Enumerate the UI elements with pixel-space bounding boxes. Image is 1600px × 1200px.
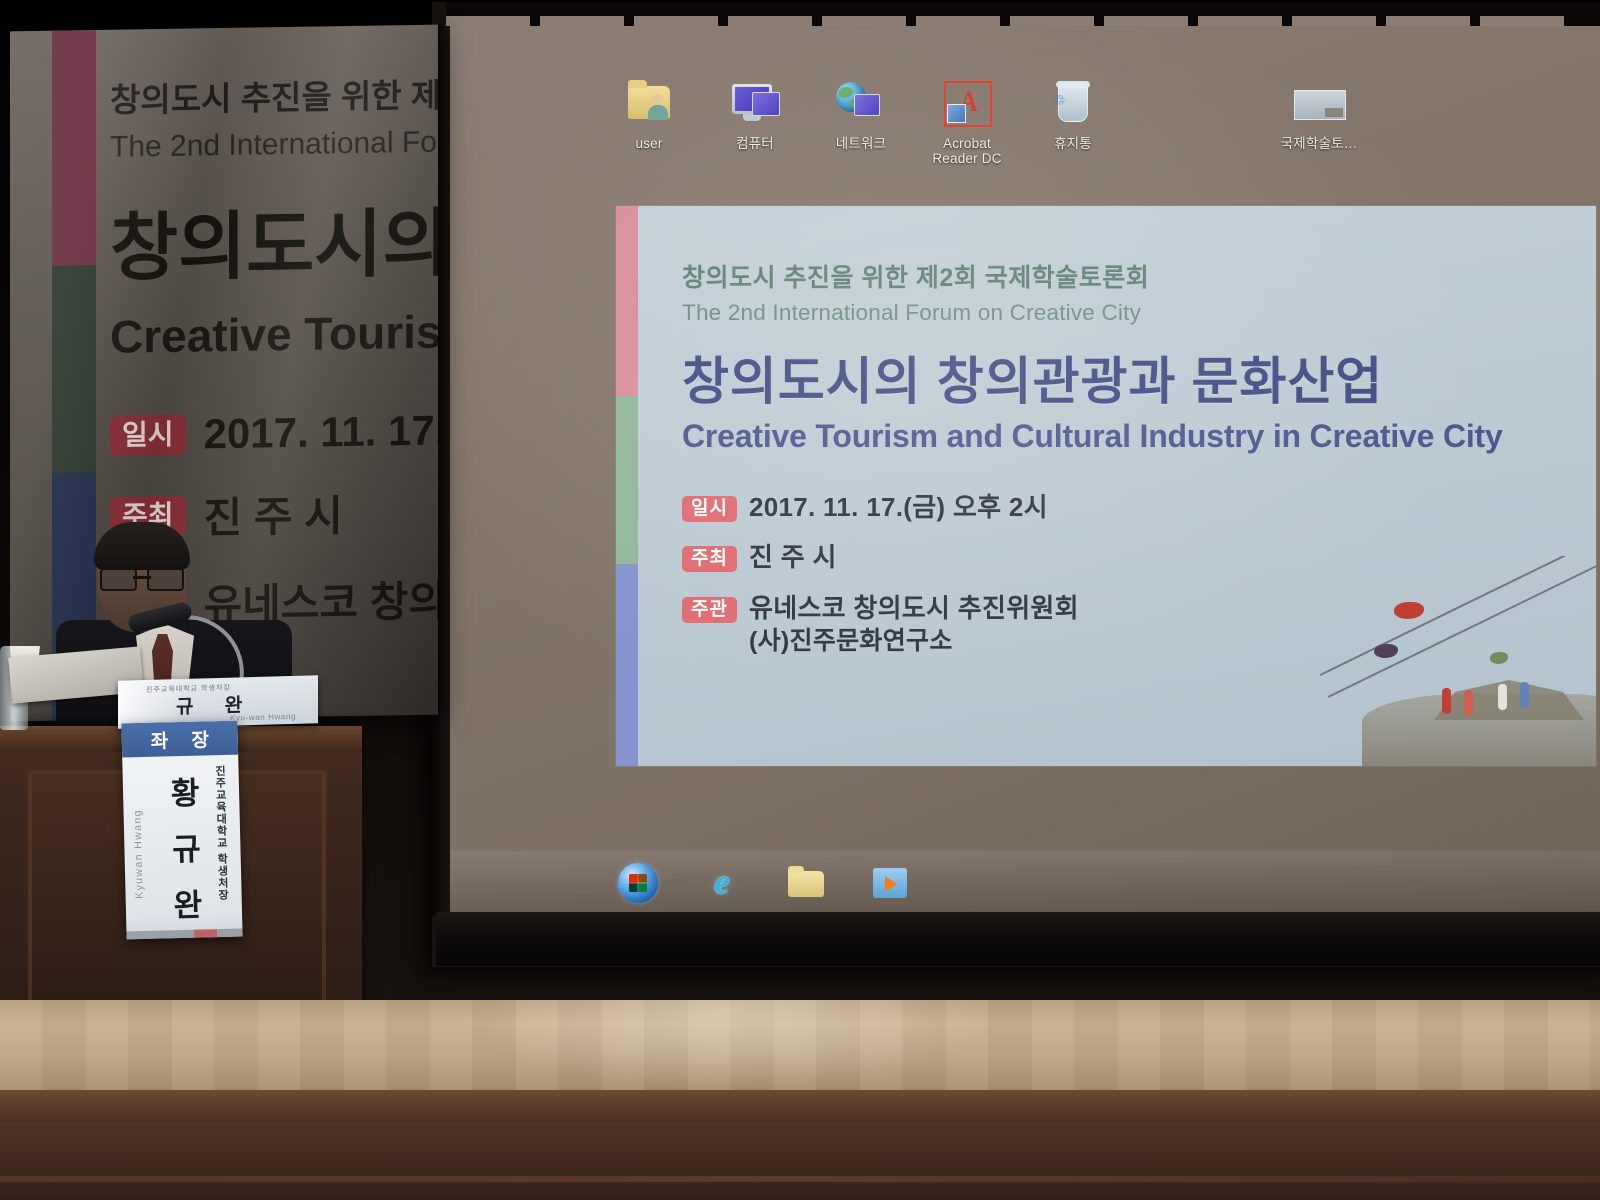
acrobat-reader-icon: A	[938, 78, 996, 130]
banner-info-row-date: 일시 2017. 11. 17.	[110, 403, 438, 460]
nameplate-romanized: Kyu-wan Hwang	[230, 712, 296, 723]
stage-floor	[0, 1000, 1600, 1092]
info-value-organizer-main: 유네스코 창의도시 추진위원회	[749, 593, 1079, 623]
illustration-roof	[1434, 680, 1584, 720]
slide-eyebrow-korean: 창의도시 추진을 위한 제2회 국제학술토론회	[682, 258, 1586, 294]
banner-title-korean: 창의도시의 창의관광과 문화산업	[110, 180, 438, 296]
info-badge-date: 일시	[682, 496, 737, 522]
info-value-date: 2017. 11. 17.(금) 오후 2시	[749, 491, 1048, 524]
presentation-slide: 창의도시 추진을 위한 제2회 국제학술토론회 The 2nd Internat…	[616, 206, 1596, 766]
projected-desktop: user 컴퓨터 네트워크 A	[450, 26, 1600, 914]
windows-taskbar[interactable]: e	[450, 850, 1600, 914]
nameplate-name-vertical: 황 규 완	[164, 765, 208, 934]
banner-eyebrow-korean: 창의도시 추진을 위한 제2회 국제학술토론회	[110, 65, 438, 122]
computer-icon	[726, 78, 784, 130]
info-value-host: 진 주 시	[749, 541, 837, 574]
slide-content: 창의도시 추진을 위한 제2회 국제학술토론회 The 2nd Internat…	[682, 258, 1586, 674]
desktop-icon-label: 휴지통	[1034, 136, 1112, 151]
start-orb-icon[interactable]	[618, 863, 658, 903]
nameplate-romanized-vertical: Kyuwan Hwang	[131, 809, 145, 899]
windows-explorer-icon[interactable]	[786, 863, 826, 903]
internet-explorer-icon[interactable]: e	[702, 863, 742, 903]
network-globe-icon	[832, 78, 890, 130]
slide-bar-pink	[616, 206, 638, 396]
info-badge-organizer: 주관	[682, 597, 737, 623]
slide-info-row-host: 주최 진 주 시	[682, 541, 1586, 574]
info-value-organizer-sub: (사)진주문화연구소	[749, 625, 1079, 657]
slide-bar-blue	[616, 564, 638, 766]
screen-bottom-bar	[436, 912, 1600, 966]
desktop-icon-label: 국제학술토…	[1280, 136, 1358, 151]
slide-title-korean: 창의도시의 창의관광과 문화산업	[682, 340, 1586, 414]
nameplate-name-char: 규	[166, 821, 207, 878]
slide-bar-green	[616, 396, 638, 564]
stage-front-trim	[0, 1176, 1600, 1182]
desktop-icon-label-line2: Reader DC	[928, 151, 1006, 166]
illustration-figure	[1498, 684, 1507, 710]
desktop-icon-label: 컴퓨터	[716, 136, 794, 151]
nameplate-affiliation: 진주교육대학교 학생처장	[211, 765, 230, 901]
slide-title-english: Creative Tourism and Cultural Industry i…	[682, 418, 1586, 455]
slide-info-row-organizer: 주관 유네스코 창의도시 추진위원회 (사)진주문화연구소	[682, 592, 1586, 657]
projection-screen: user 컴퓨터 네트워크 A	[432, 2, 1600, 982]
nameplate-name-char: 완	[167, 877, 208, 934]
desktop-icon-row: user 컴퓨터 네트워크 A	[610, 78, 1358, 166]
illustration-figure	[1464, 690, 1473, 716]
nameplate-role-badge: 좌 장	[121, 721, 238, 758]
desktop-icon-computer[interactable]: 컴퓨터	[716, 78, 794, 151]
desktop-icon-user[interactable]: user	[610, 78, 688, 151]
nameplate-name-char: 황	[164, 765, 205, 822]
file-thumbnail-icon	[1290, 78, 1348, 130]
illustration-figure	[1442, 688, 1451, 714]
eyeglasses-icon	[100, 568, 184, 587]
banner-bar-pink	[52, 30, 96, 265]
floor-light-reflection	[420, 1000, 1040, 1092]
slide-eyebrow-english: The 2nd International Forum on Creative …	[682, 300, 1586, 326]
desktop-icon-label: user	[610, 136, 688, 151]
speaker-hair	[94, 522, 190, 570]
desktop-icon-acrobat-reader[interactable]: A Acrobat Reader DC	[928, 78, 1006, 166]
slide-info-list: 일시 2017. 11. 17.(금) 오후 2시 주최 진 주 시 주관 유네…	[682, 491, 1586, 657]
info-value-organizer: 유네스코 창의도시 추진위원회 (사)진주문화연구소	[749, 592, 1079, 657]
stage-front-edge	[0, 1090, 1600, 1124]
desktop-icon-label-line1: Acrobat	[928, 136, 1006, 151]
desktop-icon-network[interactable]: 네트워크	[822, 78, 900, 151]
illustration-figure	[1520, 682, 1529, 708]
banner-badge-date: 일시	[110, 415, 186, 456]
banner-value-date: 2017. 11. 17.	[204, 407, 438, 459]
windows-media-player-icon[interactable]	[870, 863, 910, 903]
conference-photo-scene: user 컴퓨터 네트워크 A	[0, 0, 1600, 1200]
banner-title-english: Creative Tourism and Cultural Industry	[110, 301, 438, 364]
user-folder-icon	[620, 78, 678, 130]
stage-front-face	[0, 1122, 1600, 1200]
banner-eyebrow-english: The 2nd International Forum on Creative …	[110, 122, 438, 165]
recycle-bin-icon: ♲	[1044, 78, 1102, 130]
nameplate-vertical: 좌 장 황 규 완 진주교육대학교 학생처장 Kyuwan Hwang	[121, 721, 242, 940]
desktop-icon-label: 네트워크	[822, 136, 900, 151]
desktop-icon-recycle-bin[interactable]: ♲ 휴지통	[1034, 78, 1112, 151]
desktop-icon-forum-file[interactable]: 국제학술토…	[1280, 78, 1358, 151]
info-badge-host: 주최	[682, 546, 737, 572]
slide-info-row-date: 일시 2017. 11. 17.(금) 오후 2시	[682, 491, 1586, 524]
slide-color-bars	[616, 206, 638, 766]
banner-bar-green	[52, 265, 96, 473]
